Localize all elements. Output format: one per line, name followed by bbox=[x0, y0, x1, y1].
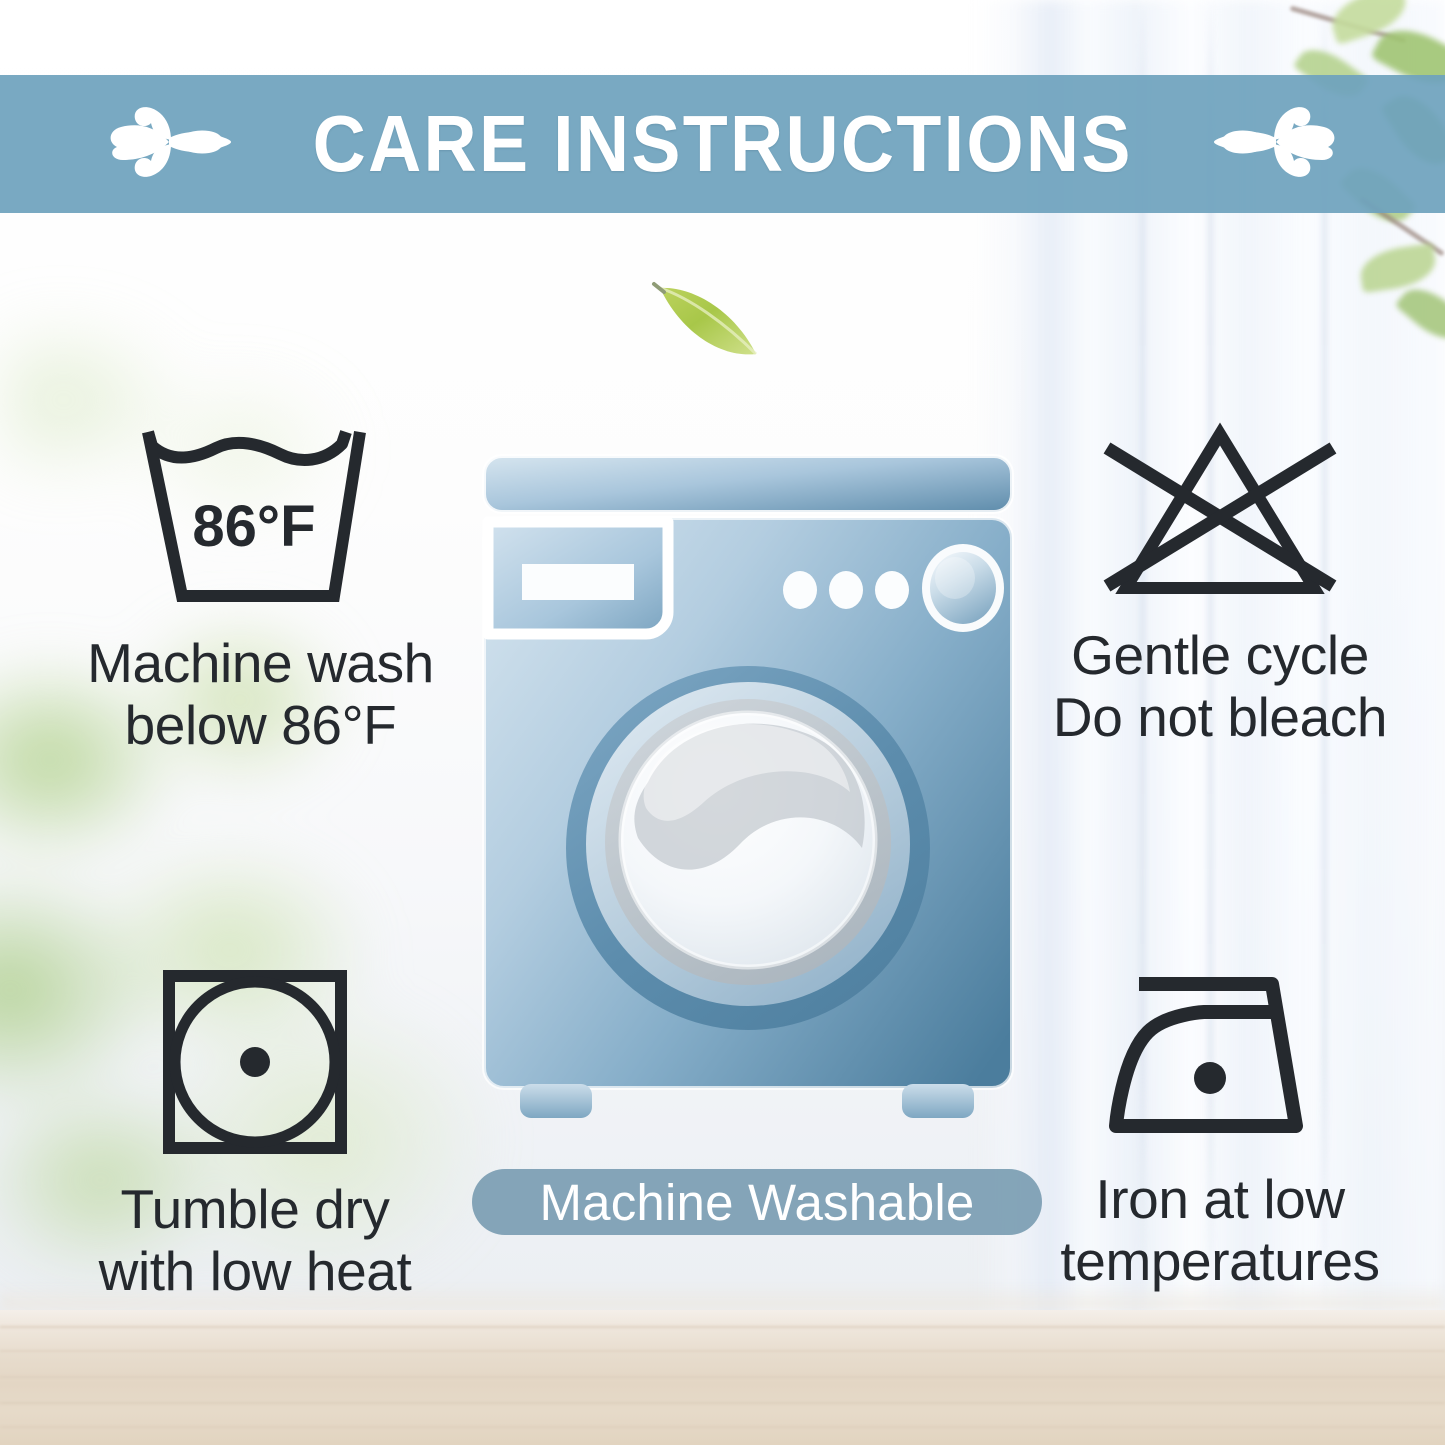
washing-machine-illustration bbox=[478, 452, 1018, 1130]
banner-title: CARE INSTRUCTIONS bbox=[312, 104, 1132, 184]
care-label-iron-low: Iron at low temperatures bbox=[1060, 1168, 1379, 1292]
machine-washable-badge: Machine Washable bbox=[472, 1169, 1042, 1235]
wash-tub-icon: 86°F bbox=[138, 424, 384, 616]
banner: CARE INSTRUCTIONS bbox=[0, 75, 1445, 213]
care-symbol-tumble-dry: Tumble dry with low heat bbox=[30, 962, 480, 1302]
tumble-dry-icon bbox=[155, 962, 355, 1162]
triangle-crossed-icon bbox=[1097, 416, 1343, 608]
care-label-tumble-dry: Tumble dry with low heat bbox=[99, 1178, 412, 1302]
wooden-table-surface bbox=[0, 1310, 1445, 1445]
wash-temperature-value: 86°F bbox=[192, 494, 315, 559]
care-symbol-machine-wash: 86°F Machine wash below 86°F bbox=[38, 424, 483, 756]
floating-leaf-icon bbox=[648, 276, 773, 368]
care-label-machine-wash: Machine wash below 86°F bbox=[87, 632, 434, 756]
iron-icon bbox=[1100, 962, 1340, 1152]
machine-washable-badge-label: Machine Washable bbox=[539, 1177, 974, 1228]
care-symbol-do-not-bleach: Gentle cycle Do not bleach bbox=[1000, 416, 1440, 748]
care-instructions-infographic: CARE INSTRUCTIONS bbox=[0, 0, 1445, 1445]
care-symbol-iron-low: Iron at low temperatures bbox=[1000, 962, 1440, 1292]
fleur-de-lis-icon bbox=[1208, 90, 1338, 199]
fleur-de-lis-icon bbox=[107, 90, 237, 199]
care-label-do-not-bleach: Gentle cycle Do not bleach bbox=[1053, 624, 1387, 748]
